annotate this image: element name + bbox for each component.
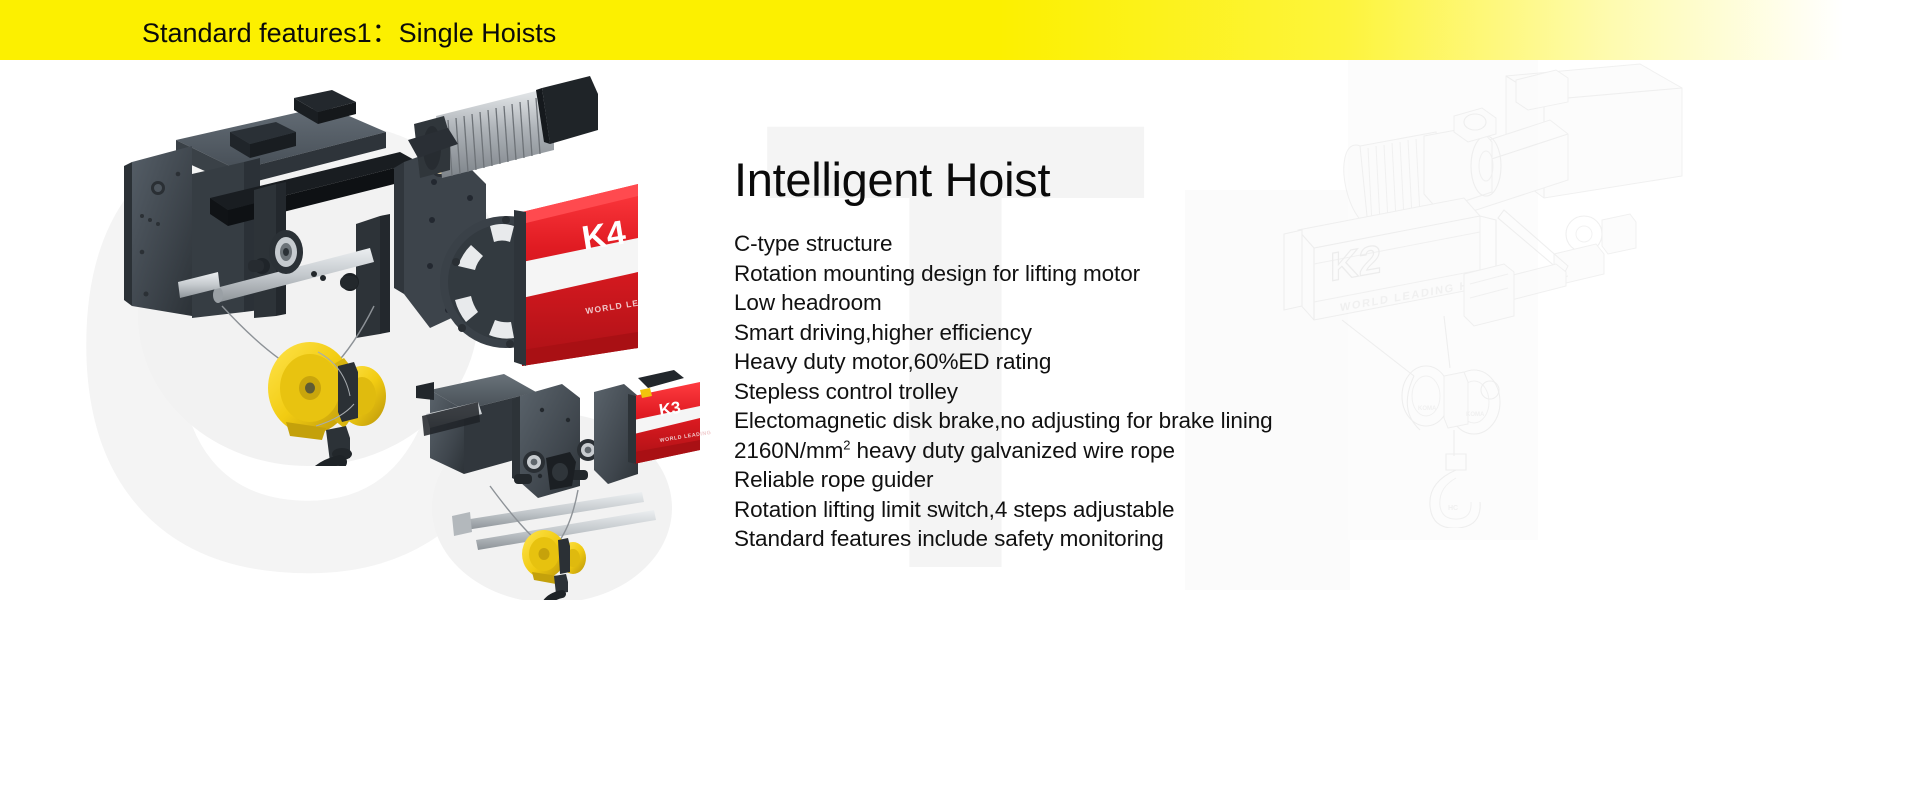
feature-item: Standard features include safety monitor… — [734, 524, 1434, 554]
text-content-column: Intelligent Hoist C-type structure Rotat… — [734, 152, 1434, 554]
feature-text: Rotation lifting limit switch,4 steps ad… — [734, 497, 1174, 522]
feature-text: Smart driving,higher efficiency — [734, 320, 1032, 345]
feature-text: C-type structure — [734, 231, 892, 256]
feature-text-after: heavy duty galvanized wire rope — [850, 438, 1175, 463]
svg-text:HC: HC — [1448, 505, 1458, 512]
slide-canvas: C T — [0, 0, 1920, 800]
feature-text: Rotation mounting design for lifting mot… — [734, 261, 1140, 286]
feature-item: C-type structure — [734, 229, 1434, 259]
feature-text: Stepless control trolley — [734, 379, 958, 404]
svg-text:KOMA: KOMA — [1466, 412, 1485, 418]
feature-item: Electomagnetic disk brake,no adjusting f… — [734, 406, 1434, 436]
feature-item: Heavy duty motor,60%ED rating — [734, 347, 1434, 377]
feature-item: Low headroom — [734, 288, 1434, 318]
feature-item: Rotation lifting limit switch,4 steps ad… — [734, 495, 1434, 525]
svg-text:K4: K4 — [579, 214, 628, 258]
feature-item-wire-rope: 2160N/mm2 heavy duty galvanized wire rop… — [734, 436, 1434, 466]
feature-item: Reliable rope guider — [734, 465, 1434, 495]
svg-text:K3: K3 — [658, 398, 682, 420]
feature-text: Electomagnetic disk brake,no adjusting f… — [734, 408, 1273, 433]
feature-text: Standard features include safety monitor… — [734, 526, 1164, 551]
page-title: Standard features1：Single Hoists — [142, 0, 556, 60]
feature-item: Stepless control trolley — [734, 377, 1434, 407]
feature-text: Low headroom — [734, 290, 882, 315]
feature-list: C-type structure Rotation mounting desig… — [734, 229, 1434, 554]
feature-text: 2160N/mm — [734, 438, 843, 463]
product-image-k3-hoist: K3 WORLD LEADING HOISTS — [412, 358, 712, 600]
feature-item: Rotation mounting design for lifting mot… — [734, 259, 1434, 289]
product-title: Intelligent Hoist — [734, 152, 1434, 207]
feature-text: Heavy duty motor,60%ED rating — [734, 349, 1051, 374]
feature-text: Reliable rope guider — [734, 467, 933, 492]
feature-item: Smart driving,higher efficiency — [734, 318, 1434, 348]
